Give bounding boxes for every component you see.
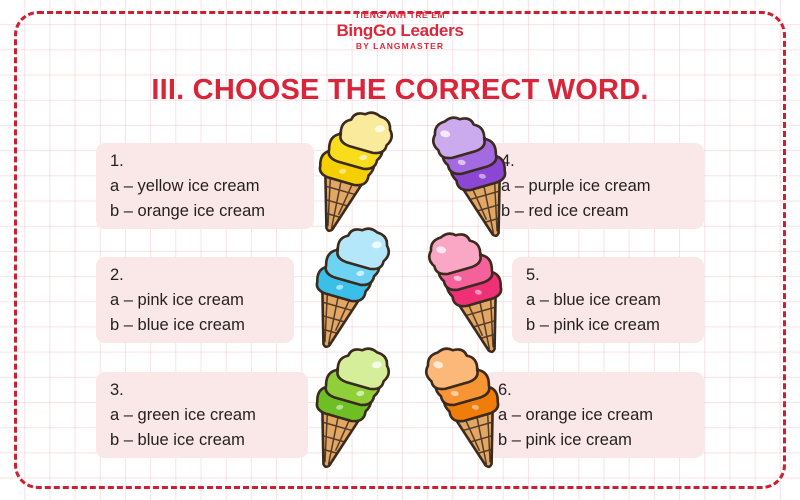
question-row-1: 1. a – yellow ice cream b – orange ice c… [96,143,704,229]
question-box-6[interactable]: 6. a – orange ice cream b – pink ice cre… [484,372,704,458]
logo-publisher: BY LANGMASTER [0,42,800,51]
question-option-a[interactable]: a – purple ice cream [501,174,690,199]
question-option-a[interactable]: a – yellow ice cream [110,174,300,199]
question-box-1[interactable]: 1. a – yellow ice cream b – orange ice c… [96,143,314,229]
question-option-b[interactable]: b – orange ice cream [110,199,300,224]
logo-name: BingGo Leaders [0,22,800,39]
question-option-b[interactable]: b – red ice cream [501,199,690,224]
question-number: 4. [501,152,690,171]
question-box-3[interactable]: 3. a – green ice cream b – blue ice crea… [96,372,308,458]
question-option-b[interactable]: b – blue ice cream [110,313,280,338]
question-option-a[interactable]: a – pink ice cream [110,288,280,313]
brand-logo: TIẾNG ANH TRẺ EM BingGo Leaders BY LANGM… [0,11,800,50]
question-number: 5. [526,266,690,285]
logo-tagline: TIẾNG ANH TRẺ EM [0,11,800,20]
question-option-b[interactable]: b – pink ice cream [526,313,690,338]
question-box-5[interactable]: 5. a – blue ice cream b – pink ice cream [512,257,704,343]
question-box-2[interactable]: 2. a – pink ice cream b – blue ice cream [96,257,294,343]
question-option-a[interactable]: a – green ice cream [110,403,294,428]
question-number: 3. [110,381,294,400]
question-number: 6. [498,381,690,400]
question-option-a[interactable]: a – blue ice cream [526,288,690,313]
question-row-3: 3. a – green ice cream b – blue ice crea… [96,372,704,458]
question-option-a[interactable]: a – orange ice cream [498,403,690,428]
question-option-b[interactable]: b – pink ice cream [498,428,690,453]
worksheet-page: TIẾNG ANH TRẺ EM BingGo Leaders BY LANGM… [0,0,800,500]
page-title: III. CHOOSE THE CORRECT WORD. [0,74,800,107]
question-number: 1. [110,152,300,171]
question-option-b[interactable]: b – blue ice cream [110,428,294,453]
question-row-2: 2. a – pink ice cream b – blue ice cream… [96,257,704,343]
question-number: 2. [110,266,280,285]
question-box-4[interactable]: 4. a – purple ice cream b – red ice crea… [487,143,704,229]
